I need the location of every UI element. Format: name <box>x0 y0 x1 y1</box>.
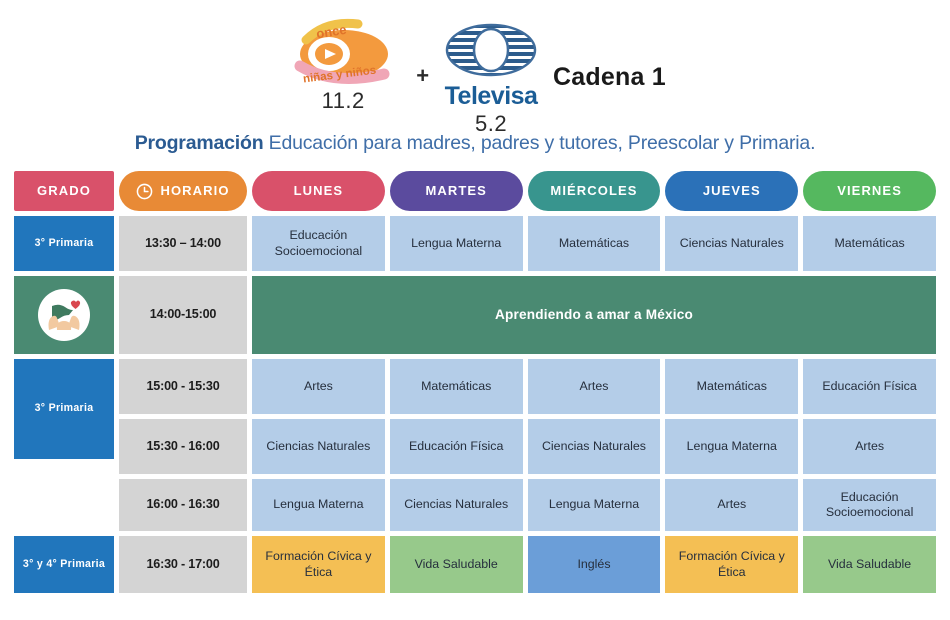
hands-heart-mexico-icon <box>38 289 90 341</box>
header-grado-label: GRADO <box>37 183 91 199</box>
subtitle-bold: Programación <box>135 132 264 154</box>
time-label: 16:00 - 16:30 <box>146 497 219 512</box>
header-viernes[interactable]: VIERNES <box>803 171 936 211</box>
subject-cell[interactable]: Formación Cívica y Ética <box>252 536 385 593</box>
subject-cell[interactable]: Lengua Materna <box>390 216 523 271</box>
header-lunes[interactable]: LUNES <box>252 171 385 211</box>
header-viernes-label: VIERNES <box>837 183 902 199</box>
page-subtitle: Programación Educación para madres, padr… <box>0 132 950 155</box>
subject-cell[interactable]: Educación Socioemocional <box>803 479 936 531</box>
channel-number-once: 11.2 <box>322 88 365 114</box>
subject-cell[interactable]: Artes <box>803 419 936 474</box>
subject-cell[interactable]: Ciencias Naturales <box>528 419 661 474</box>
channel-logo-strip: once niñas y niños 11.2 + <box>0 0 950 130</box>
grade-cell-icon <box>14 276 114 354</box>
subject-cell[interactable]: Matemáticas <box>803 216 936 271</box>
header-miercoles[interactable]: MIÉRCOLES <box>528 171 661 211</box>
subject-cell[interactable]: Educación Física <box>803 359 936 414</box>
channel-once-block: once niñas y niños 11.2 <box>284 14 402 114</box>
network-label: Cadena 1 <box>553 63 666 92</box>
table-header-row: GRADO HORARIO LUNES MARTES MIÉRCOLES JUE… <box>14 171 936 211</box>
merged-rows: 15:00 - 15:30 Artes Matemáticas Artes Ma… <box>119 359 936 531</box>
subject-cell[interactable]: Lengua Materna <box>528 479 661 531</box>
subject-cell[interactable]: Vida Saludable <box>803 536 936 593</box>
table-row: 3° y 4° Primaria 16:30 - 17:00 Formación… <box>14 536 936 593</box>
subject-cell[interactable]: Ciencias Naturales <box>390 479 523 531</box>
subject-cell[interactable]: Artes <box>252 359 385 414</box>
time-label: 15:30 - 16:00 <box>146 439 219 454</box>
subject-cell[interactable]: Matemáticas <box>390 359 523 414</box>
subtitle-rest: Educación para madres, padres y tutores,… <box>263 132 815 154</box>
once-ninas-y-ninos-logo: once niñas y niños <box>284 14 402 86</box>
subject-cell[interactable]: Formación Cívica y Ética <box>665 536 798 593</box>
channel-televisa-block: Televisa 5.2 <box>443 14 539 137</box>
header-grado[interactable]: GRADO <box>14 171 114 211</box>
time-label: 16:30 - 17:00 <box>146 557 219 572</box>
subject-cell[interactable]: Ciencias Naturales <box>252 419 385 474</box>
subject-cell[interactable]: Artes <box>665 479 798 531</box>
subject-cell[interactable]: Lengua Materna <box>252 479 385 531</box>
grade-cell: 3° y 4° Primaria <box>14 536 114 593</box>
header-lunes-label: LUNES <box>294 183 344 199</box>
grade-label: 3° y 4° Primaria <box>23 558 105 571</box>
table-row: 15:00 - 15:30 Artes Matemáticas Artes Ma… <box>119 359 936 414</box>
subject-cell[interactable]: Educación Física <box>390 419 523 474</box>
televisa-wordmark: Televisa <box>445 84 538 109</box>
header-horario[interactable]: HORARIO <box>119 171 247 211</box>
subject-cell[interactable]: Matemáticas <box>528 216 661 271</box>
banner-cell[interactable]: Aprendiendo a amar a México <box>252 276 936 354</box>
televisa-logo <box>443 14 539 86</box>
time-cell: 15:00 - 15:30 <box>119 359 247 414</box>
grade-cell: 3° Primaria <box>14 359 114 459</box>
subject-cell[interactable]: Educación Socioemocional <box>252 216 385 271</box>
time-cell: 15:30 - 16:00 <box>119 419 247 474</box>
grade-label: 3° Primaria <box>35 402 94 415</box>
subject-cell[interactable]: Ciencias Naturales <box>665 216 798 271</box>
plus-separator: + <box>416 63 429 89</box>
time-cell: 16:30 - 17:00 <box>119 536 247 593</box>
grade-label: 3° Primaria <box>35 237 94 250</box>
time-cell: 16:00 - 16:30 <box>119 479 247 531</box>
time-label: 13:30 – 14:00 <box>145 236 221 251</box>
time-label: 15:00 - 15:30 <box>146 379 219 394</box>
subject-cell[interactable]: Vida Saludable <box>390 536 523 593</box>
time-cell: 14:00-15:00 <box>119 276 247 354</box>
header-miercoles-label: MIÉRCOLES <box>550 183 637 199</box>
schedule-table: GRADO HORARIO LUNES MARTES MIÉRCOLES JUE… <box>14 171 936 593</box>
time-label: 14:00-15:00 <box>150 307 216 322</box>
header-martes-label: MARTES <box>425 183 487 199</box>
subject-cell[interactable]: Lengua Materna <box>665 419 798 474</box>
header-jueves-label: JUEVES <box>703 183 761 199</box>
header-jueves[interactable]: JUEVES <box>665 171 798 211</box>
header-martes[interactable]: MARTES <box>390 171 523 211</box>
time-cell: 13:30 – 14:00 <box>119 216 247 271</box>
subject-cell[interactable]: Artes <box>528 359 661 414</box>
table-row-banner: 14:00-15:00 Aprendiendo a amar a México <box>14 276 936 354</box>
subject-cell[interactable]: Inglés <box>528 536 661 593</box>
table-row: 15:30 - 16:00 Ciencias Naturales Educaci… <box>119 419 936 474</box>
merged-grade-group: 3° Primaria 15:00 - 15:30 Artes Matemáti… <box>14 359 936 531</box>
clock-icon <box>136 183 153 200</box>
table-row: 16:00 - 16:30 Lengua Materna Ciencias Na… <box>119 479 936 531</box>
merged-grade-column: 3° Primaria <box>14 359 114 531</box>
subject-cell[interactable]: Matemáticas <box>665 359 798 414</box>
grade-cell: 3° Primaria <box>14 216 114 271</box>
table-row: 3° Primaria 13:30 – 14:00 Educación Soci… <box>14 216 936 271</box>
header-horario-label: HORARIO <box>160 183 229 199</box>
